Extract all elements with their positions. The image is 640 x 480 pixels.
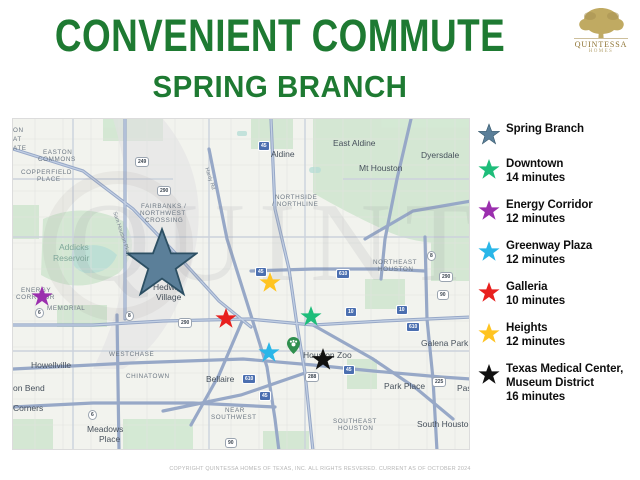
highway-shield-icon: 45 [255,267,267,277]
star-icon [478,240,500,262]
highway-shield-icon: 225 [432,377,446,387]
zoo-pin-icon [287,337,300,354]
star-icon [478,123,500,145]
legend-destination-name-2: Museum District [506,376,638,390]
legend-commute-time: 12 minutes [506,335,638,349]
legend-item[interactable]: Spring Branch [478,122,638,144]
logo-divider [574,38,628,39]
star-icon [478,322,500,344]
highway-shield-icon: 10 [345,307,357,317]
highway-shield-icon: 90 [437,290,449,300]
legend-item[interactable]: Energy Corridor12 minutes [478,198,638,226]
star-icon [478,123,500,145]
highway-shield-icon: 6 [88,410,97,420]
highway-shield-icon: 45 [259,391,271,401]
highway-shield-icon: 290 [178,318,192,328]
legend-item[interactable]: Greenway Plaza12 minutes [478,239,638,267]
legend-item-label: Spring Branch [506,122,638,136]
legend-item[interactable]: Heights12 minutes [478,321,638,349]
legend-destination-name: Texas Medical Center, [506,362,638,376]
star-icon [478,322,500,344]
legend-destination-name: Energy Corridor [506,198,638,212]
page-title: CONVENIENT COMMUTE [50,12,509,60]
logo-tagline: HOMES [568,49,634,54]
star-icon [478,240,500,262]
legend-destination-name: Downtown [506,157,638,171]
highway-shield-icon: 290 [439,272,453,282]
highway-shield-icon: 8 [427,251,436,261]
highway-shield-icon: 610 [406,322,420,332]
star-icon [478,363,500,385]
commute-map[interactable]: QUINTESSA AldineEast AldineMt HoustonDye… [12,118,470,450]
legend-commute-time: 16 minutes [506,390,638,404]
highway-shield-icon: 290 [157,186,171,196]
star-icon [478,281,500,303]
highway-shield-icon: 10 [396,305,408,315]
highway-shield-icon: 6 [35,308,44,318]
legend-destination-name: Greenway Plaza [506,239,638,253]
star-icon [478,281,500,303]
page-subtitle: SPRING BRANCH [14,70,546,104]
legend-destination-name: Galleria [506,280,638,294]
legend-item[interactable]: Galleria10 minutes [478,280,638,308]
legend-item[interactable]: Texas Medical Center,Museum District16 m… [478,362,638,404]
legend-commute-time: 10 minutes [506,294,638,308]
legend-item-label: Downtown14 minutes [506,157,638,185]
highway-shield-icon: 288 [305,372,319,382]
legend-item-label: Greenway Plaza12 minutes [506,239,638,267]
star-icon [478,158,500,180]
logo-wordmark: QUINTESSA [568,40,634,49]
map-basemap [13,119,470,450]
highway-shield-icon: 8 [125,311,134,321]
tree-icon [568,2,634,42]
brand-logo: QUINTESSA HOMES [568,2,634,60]
star-icon [478,199,500,221]
star-icon [478,199,500,221]
legend-item-label: Texas Medical Center,Museum District16 m… [506,362,638,404]
legend-item-label: Heights12 minutes [506,321,638,349]
highway-shield-icon: 90 [225,438,237,448]
legend-item-label: Galleria10 minutes [506,280,638,308]
legend-commute-time: 14 minutes [506,171,638,185]
highway-shield-icon: 610 [242,374,256,384]
star-icon [478,363,500,385]
legend-destination-name: Spring Branch [506,122,638,136]
slide-root: CONVENIENT COMMUTE SPRING BRANCH QUINTES… [0,0,640,480]
legend-destination-name: Heights [506,321,638,335]
highway-shield-icon: 45 [258,141,270,151]
copyright-notice: COPYRIGHT QUINTESSA HOMES OF TEXAS, INC.… [0,466,640,472]
highway-shield-icon: 249 [135,157,149,167]
star-icon [478,158,500,180]
legend-commute-time: 12 minutes [506,253,638,267]
highway-shield-icon: 610 [336,269,350,279]
legend-item[interactable]: Downtown14 minutes [478,157,638,185]
highway-shield-icon: 45 [343,365,355,375]
legend-item-label: Energy Corridor12 minutes [506,198,638,226]
legend: Spring BranchDowntown14 minutesEnergy Co… [478,122,638,417]
legend-commute-time: 12 minutes [506,212,638,226]
